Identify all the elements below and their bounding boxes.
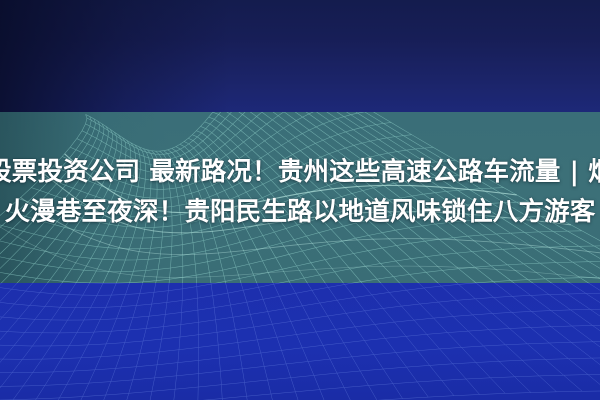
banner-image: 股票投资公司 最新路况！贵州这些高速公路车流量 | 烟火漫巷至夜深！贵阳民生路以… bbox=[0, 0, 600, 400]
banner-headline: 股票投资公司 最新路况！贵州这些高速公路车流量 | 烟火漫巷至夜深！贵阳民生路以… bbox=[0, 152, 600, 232]
